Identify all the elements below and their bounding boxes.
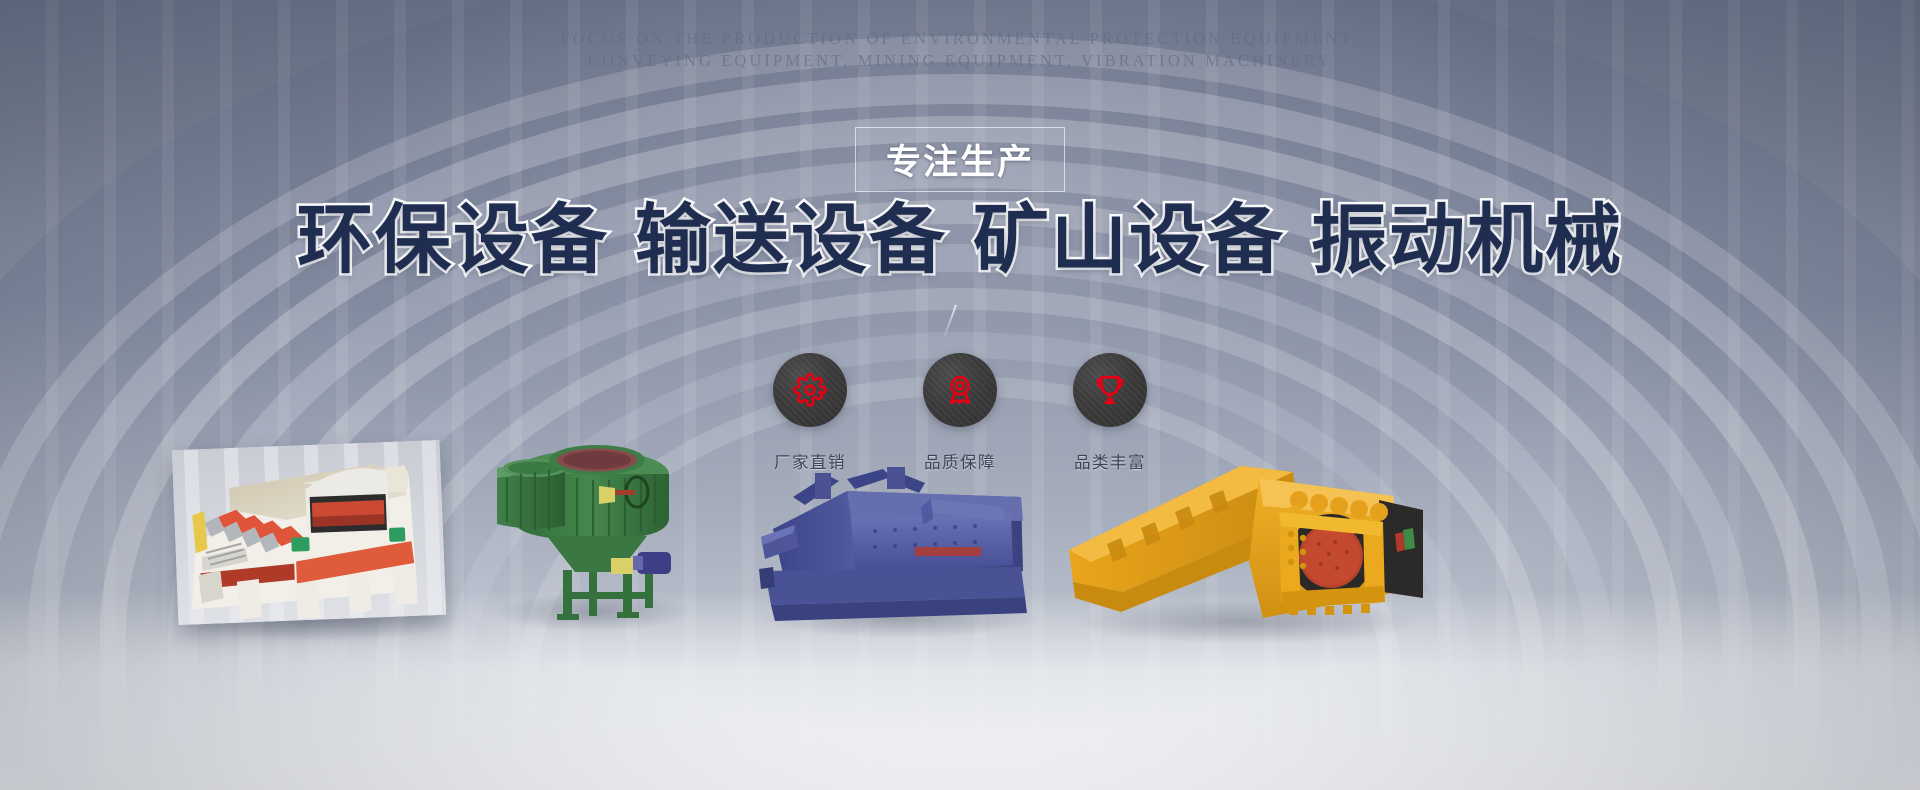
machine-photo-disc-feeder (487, 432, 683, 622)
vibrating-screen-machine-photo (755, 463, 1040, 623)
machine-photo-jaw-crusher (1063, 452, 1423, 637)
headline-part-4: 振动机械 (1311, 195, 1623, 284)
decorative-tick-mark (943, 305, 957, 338)
gear-icon (773, 353, 847, 427)
trophy-icon (1073, 353, 1147, 427)
headline-part-1: 环保设备 (297, 195, 609, 284)
medal-icon (923, 353, 997, 427)
jaw-crusher-machine-photo (1063, 452, 1423, 637)
feature-item-quality-guarantee[interactable]: 品质保障 (922, 353, 998, 473)
eyebrow-tagline: FOCUS ON THE PRODUCTION OF ENVIRONMENTAL… (0, 28, 1920, 72)
headline-part-3: 矿山设备 (973, 195, 1285, 284)
page-title: 环保设备输送设备矿山设备振动机械 (0, 178, 1920, 288)
headline-part-2: 输送设备 (635, 195, 947, 284)
disc-feeder-machine-photo (487, 432, 683, 622)
banner-content: FOCUS ON THE PRODUCTION OF ENVIRONMENTAL… (0, 0, 1920, 790)
machine-photo-vibrating-screen (755, 463, 1040, 623)
screening-machine-photo (172, 440, 447, 625)
machine-photo-screening (172, 440, 447, 625)
hero-banner: FOCUS ON THE PRODUCTION OF ENVIRONMENTAL… (0, 0, 1920, 790)
feature-item-factory-direct[interactable]: 厂家直销 (772, 353, 848, 473)
